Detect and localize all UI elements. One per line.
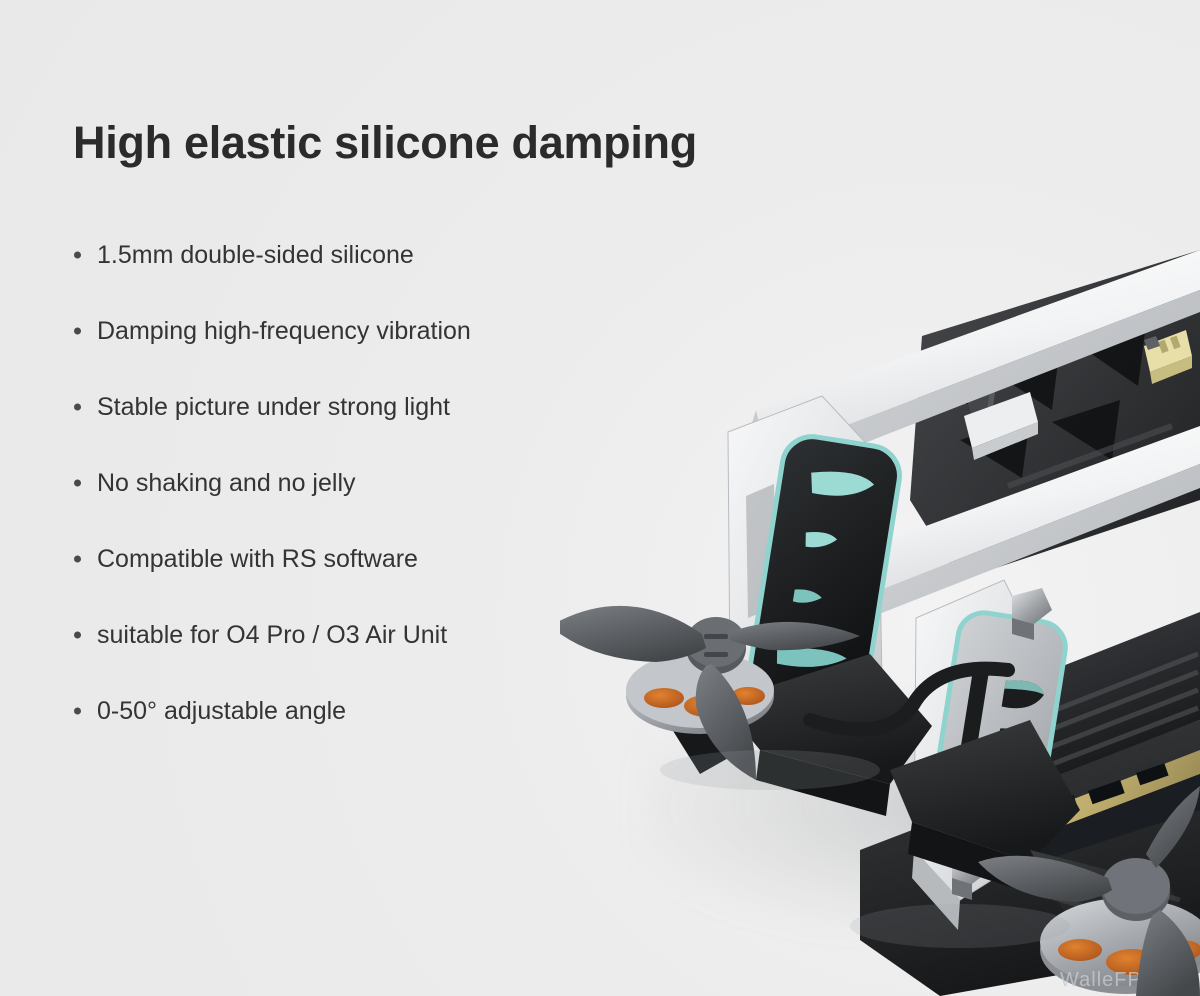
feature-label: Damping high-frequency vibration xyxy=(97,319,471,344)
feature-list: 1.5mm double-sided silicone Damping high… xyxy=(73,217,693,749)
bullet-dot-icon xyxy=(74,708,81,715)
bullet-dot-icon xyxy=(74,480,81,487)
bullet-dot-icon xyxy=(74,404,81,411)
feature-label: Stable picture under strong light xyxy=(97,395,450,420)
feature-label: Compatible with RS software xyxy=(97,547,418,572)
feature-list-item: 0-50° adjustable angle xyxy=(73,673,693,749)
feature-list-item: 1.5mm double-sided silicone xyxy=(73,217,693,293)
product-feature-page: High elastic silicone damping 1.5mm doub… xyxy=(0,0,1200,996)
feature-label: 0-50° adjustable angle xyxy=(97,699,346,724)
bullet-dot-icon xyxy=(74,252,81,259)
copy-block: High elastic silicone damping 1.5mm doub… xyxy=(73,118,693,749)
feature-label: No shaking and no jelly xyxy=(97,471,356,496)
page-title: High elastic silicone damping xyxy=(73,118,693,168)
feature-label: 1.5mm double-sided silicone xyxy=(97,243,414,268)
feature-list-item: Stable picture under strong light xyxy=(73,369,693,445)
bullet-dot-icon xyxy=(74,632,81,639)
feature-list-item: Damping high-frequency vibration xyxy=(73,293,693,369)
feature-list-item: No shaking and no jelly xyxy=(73,445,693,521)
feature-list-item: suitable for O4 Pro / O3 Air Unit xyxy=(73,597,693,673)
bullet-dot-icon xyxy=(74,328,81,335)
feature-list-item: Compatible with RS software xyxy=(73,521,693,597)
bullet-dot-icon xyxy=(74,556,81,563)
feature-label: suitable for O4 Pro / O3 Air Unit xyxy=(97,623,447,648)
